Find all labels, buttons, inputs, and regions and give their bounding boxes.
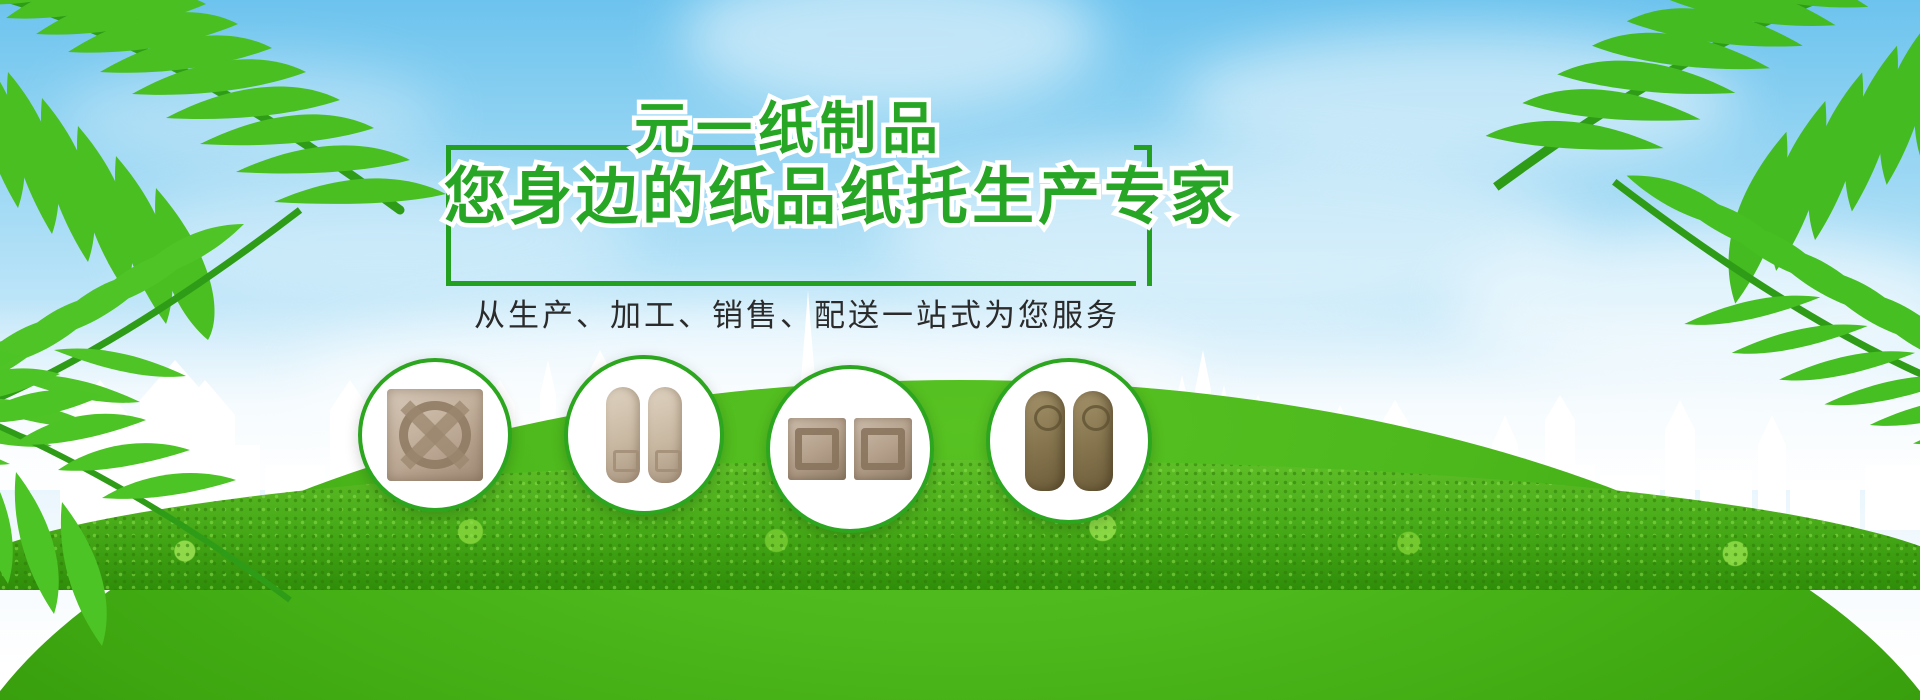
- product-circle-paper-pulp-insole-pair[interactable]: [564, 355, 724, 515]
- pulp-insole-pair-image: [606, 387, 682, 483]
- pulp-tray-pair-image: [788, 418, 912, 480]
- pulp-tray-image: [387, 389, 483, 481]
- product-circle-group: [0, 0, 1920, 700]
- product-circle-square-pulp-tray[interactable]: [358, 358, 512, 512]
- product-circle-pulp-shoe-form-pair[interactable]: [986, 358, 1152, 524]
- promo-banner: 元一纸制品 您身边的纸品纸托生产专家 从生产、加工、销售、配送一站式为您服务: [0, 0, 1920, 700]
- pulp-shoe-form-pair-image: [1025, 391, 1113, 491]
- product-circle-pulp-packaging-tray-pair[interactable]: [766, 365, 934, 533]
